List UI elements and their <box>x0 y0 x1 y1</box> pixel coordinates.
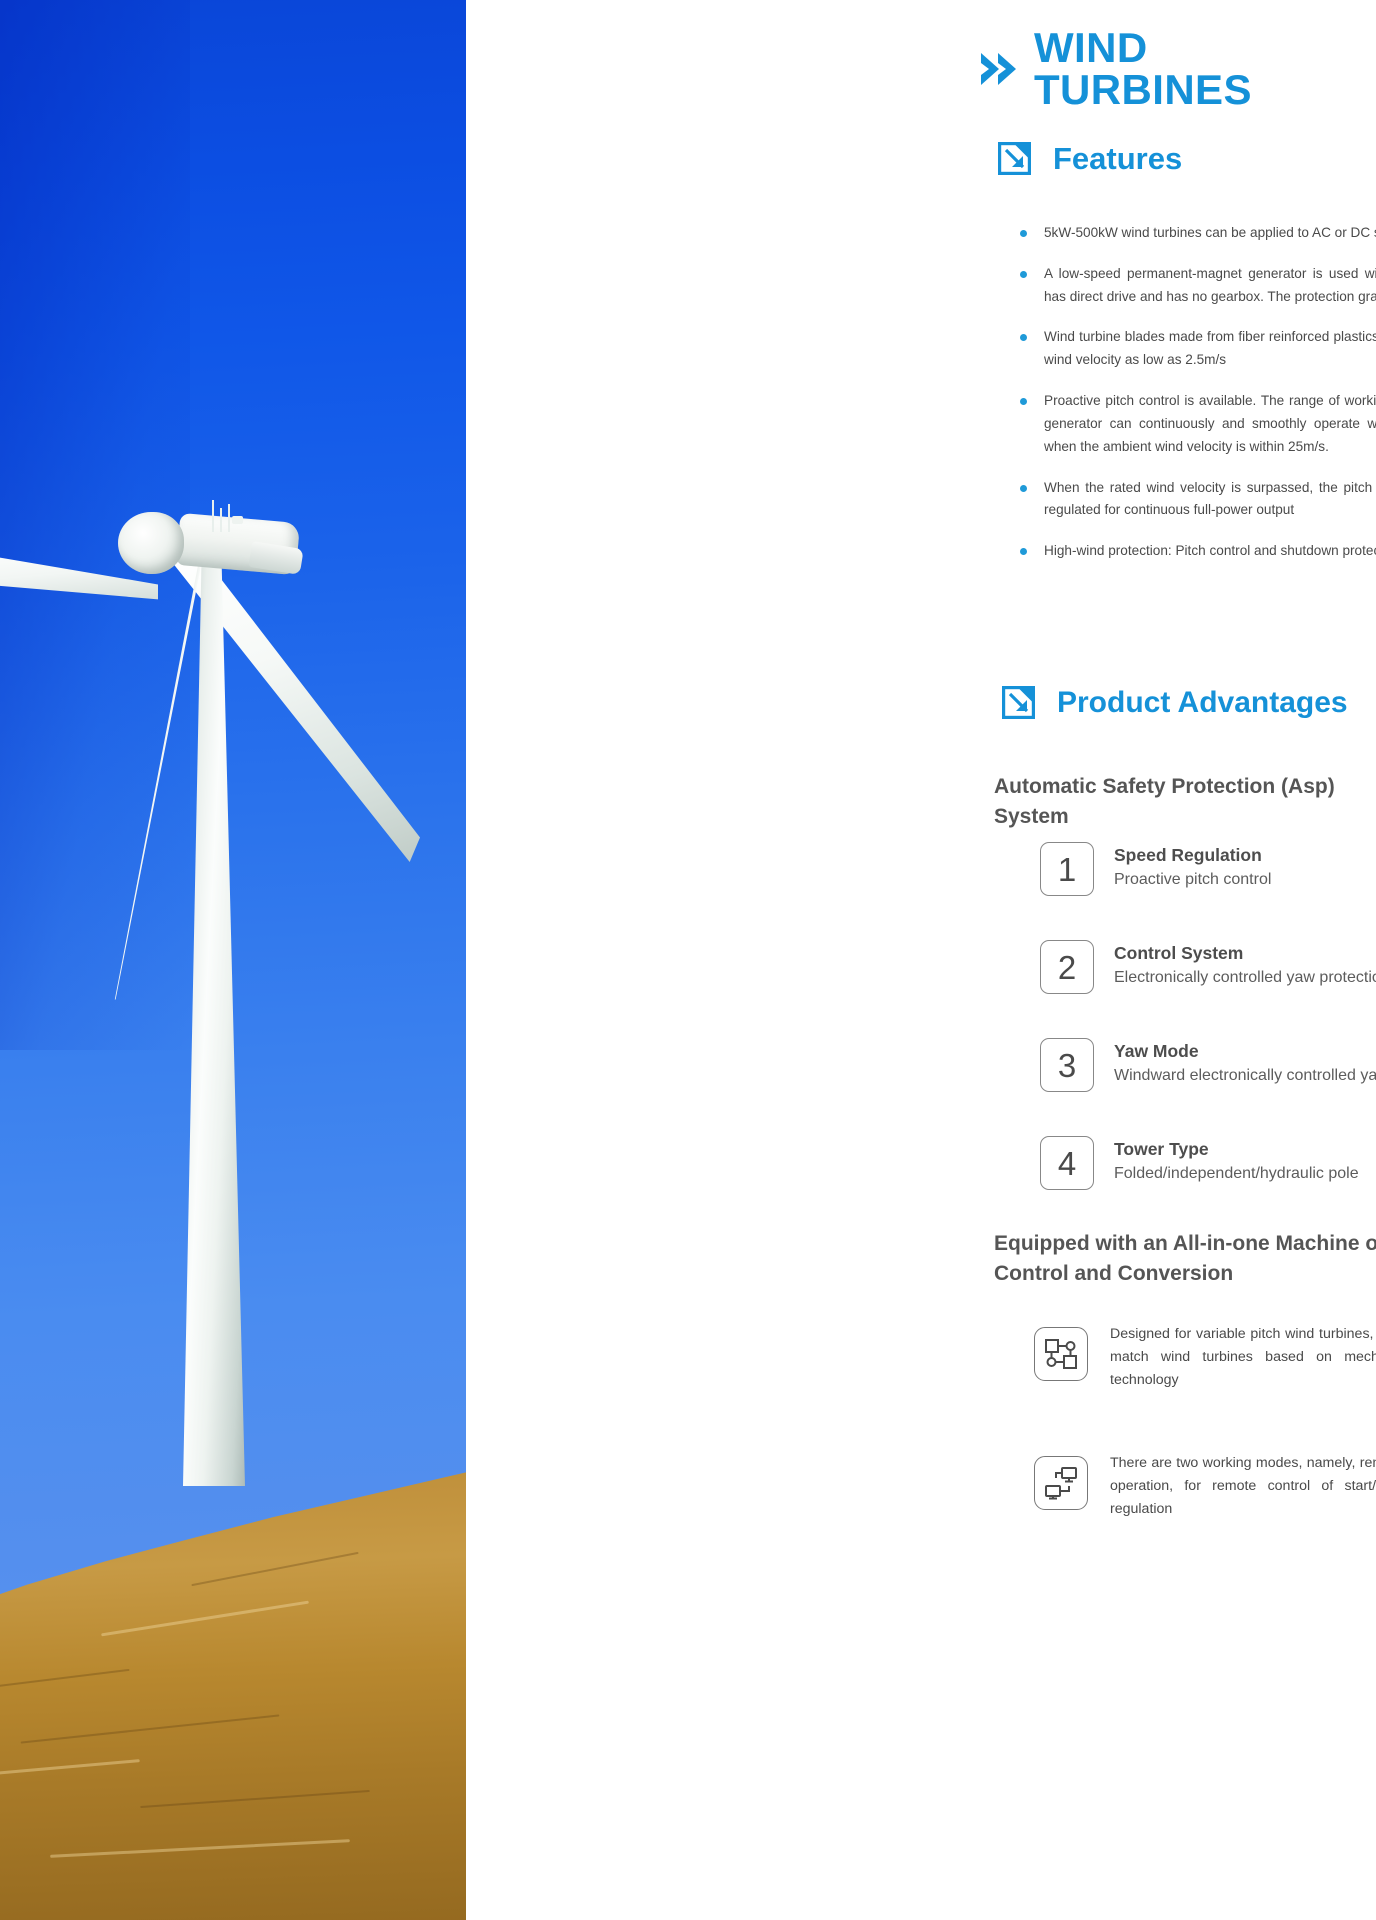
item-title: Speed Regulation <box>1114 844 1271 868</box>
item-description: Windward electronically controlled yaw <box>1114 1065 1376 1087</box>
feature-description: Designed for variable pitch wind turbine… <box>1110 1323 1376 1392</box>
feature-item: There are two working modes, namely, rem… <box>1034 1452 1376 1521</box>
item-description: Folded/independent/hydraulic pole <box>1114 1163 1359 1185</box>
diagonal-arrow-square-icon <box>998 142 1031 175</box>
nacelle-mast <box>228 504 230 532</box>
item-text-group: Yaw Mode Windward electronically control… <box>1114 1038 1376 1087</box>
item-text-group: Control System Electronically controlled… <box>1114 940 1376 989</box>
product-brochure-page: WIND TURBINES Features 5kW-500kW wind tu… <box>0 0 1376 1920</box>
diagonal-arrow-square-icon <box>1002 686 1035 719</box>
item-text-group: Tower Type Folded/independent/hydraulic … <box>1114 1136 1359 1185</box>
features-section-heading: Features <box>998 142 1182 175</box>
allinone-feature-list: Designed for variable pitch wind turbine… <box>1034 1323 1376 1521</box>
item-number-badge: 2 <box>1040 940 1094 994</box>
item-number-badge: 1 <box>1040 842 1094 896</box>
feature-item: Designed for variable pitch wind turbine… <box>1034 1323 1376 1392</box>
feature-description: There are two working modes, namely, rem… <box>1110 1452 1376 1521</box>
feature-bullet: When the rated wind velocity is surpasse… <box>1019 477 1376 523</box>
nacelle-sensor <box>232 516 243 524</box>
allinone-machine-heading: Equipped with an All-in-one Machine of W… <box>994 1229 1376 1289</box>
page-title-row: WIND TURBINES <box>979 27 1376 111</box>
item-description: Proactive pitch control <box>1114 869 1271 891</box>
advantages-section-heading: Product Advantages <box>1002 686 1348 719</box>
connected-monitors-icon <box>1034 1456 1088 1510</box>
content-column: WIND TURBINES Features 5kW-500kW wind tu… <box>466 0 1376 1920</box>
item-description: Electronically controlled yaw protection <box>1114 967 1376 989</box>
network-nodes-icon <box>1034 1327 1088 1381</box>
numbered-item: 3 Yaw Mode Windward electronically contr… <box>1040 1038 1376 1092</box>
advantages-title: Product Advantages <box>1057 688 1348 718</box>
item-title: Tower Type <box>1114 1138 1359 1162</box>
double-chevron-right-icon <box>979 47 1019 91</box>
feature-bullet: 5kW-500kW wind turbines can be applied t… <box>1019 222 1376 245</box>
feature-bullet: High-wind protection: Pitch control and … <box>1019 540 1376 563</box>
numbered-item: 4 Tower Type Folded/independent/hydrauli… <box>1040 1136 1376 1190</box>
item-title: Yaw Mode <box>1114 1040 1376 1064</box>
nacelle-mast <box>220 508 222 532</box>
feature-bullet: A low-speed permanent-magnet generator i… <box>1019 263 1376 309</box>
numbered-item: 1 Speed Regulation Proactive pitch contr… <box>1040 842 1376 896</box>
item-text-group: Speed Regulation Proactive pitch control <box>1114 842 1271 891</box>
asp-system-heading: Automatic Safety Protection (Asp) System <box>994 772 1376 832</box>
turbine-hub <box>118 512 184 574</box>
nacelle-mast <box>212 500 214 532</box>
features-bullet-list: 5kW-500kW wind turbines can be applied t… <box>1019 222 1376 563</box>
turbine-structure <box>0 0 466 1920</box>
feature-bullet: Wind turbine blades made from fiber rein… <box>1019 326 1376 372</box>
item-number-badge: 4 <box>1040 1136 1094 1190</box>
wind-turbine-photo <box>0 0 466 1920</box>
features-title: Features <box>1053 143 1182 174</box>
numbered-item: 2 Control System Electronically controll… <box>1040 940 1376 994</box>
item-title: Control System <box>1114 942 1376 966</box>
item-number-badge: 3 <box>1040 1038 1094 1092</box>
page-title: WIND TURBINES <box>1034 27 1376 111</box>
turbine-tower <box>183 556 245 1486</box>
asp-numbered-list: 1 Speed Regulation Proactive pitch contr… <box>1040 842 1376 1190</box>
feature-bullet: Proactive pitch control is available. Th… <box>1019 390 1376 458</box>
